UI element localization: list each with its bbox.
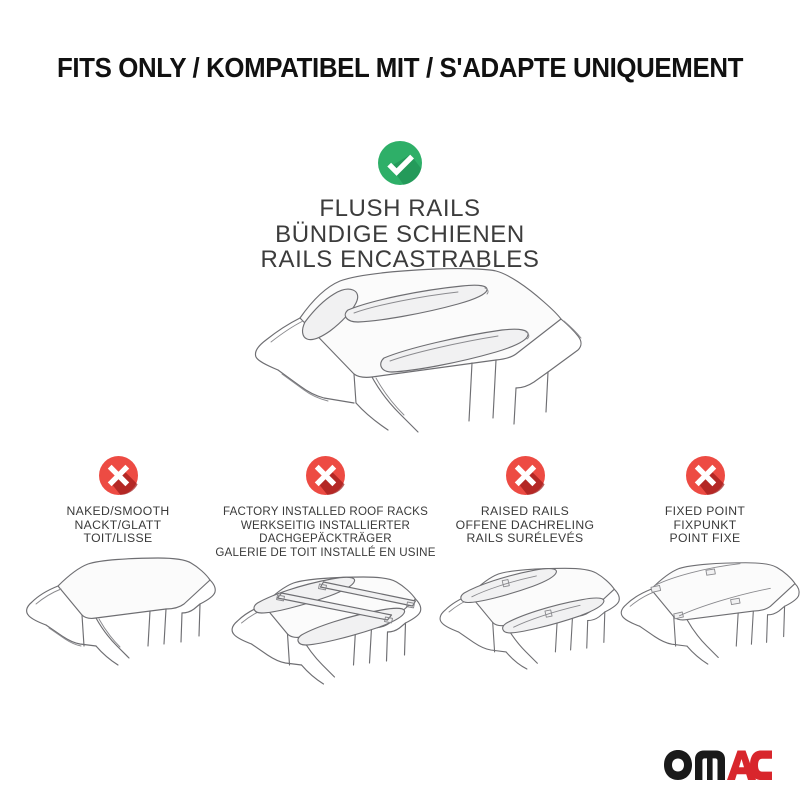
cross-circle-icon bbox=[98, 455, 139, 496]
label-de-line1: WERKSEITIG INSTALLIERTER bbox=[208, 519, 443, 533]
label-fr: POINT FIXE bbox=[615, 532, 795, 546]
page-title: FITS ONLY / KOMPATIBEL MIT / S'ADAPTE UN… bbox=[24, 52, 776, 84]
label-en: FIXED POINT bbox=[615, 505, 795, 519]
incompatible-labels-naked-smooth: NAKED/SMOOTH NACKT/GLATT TOIT/LISSE bbox=[18, 505, 218, 546]
car-roof-flush-rails-illustration bbox=[196, 262, 616, 437]
label-de: FIXPUNKT bbox=[615, 519, 795, 533]
cross-circle-icon bbox=[305, 455, 346, 496]
cross-circle-icon bbox=[685, 455, 726, 496]
car-roof-fixed-point-illustration bbox=[615, 552, 795, 672]
car-roof-factory-racks-illustration bbox=[208, 565, 443, 685]
incompatible-labels-fixed-point: FIXED POINT FIXPUNKT POINT FIXE bbox=[615, 505, 795, 546]
omac-logo bbox=[663, 748, 773, 782]
incompatible-item-raised-rails: RAISED RAILS OFFENE DACHRELING RAILS SUR… bbox=[430, 455, 620, 672]
label-de-line2: DACHGEPÄCKTRÄGER bbox=[208, 532, 443, 546]
car-roof-naked-illustration bbox=[18, 552, 218, 672]
label-en: RAISED RAILS bbox=[430, 505, 620, 519]
compatible-label-en: FLUSH RAILS bbox=[0, 196, 800, 222]
label-en: NAKED/SMOOTH bbox=[18, 505, 218, 519]
incompatible-item-factory-racks: FACTORY INSTALLED ROOF RACKS WERKSEITIG … bbox=[208, 455, 443, 685]
logo-letter-m bbox=[695, 751, 725, 781]
label-fr: TOIT/LISSE bbox=[18, 532, 218, 546]
incompatible-section: NAKED/SMOOTH NACKT/GLATT TOIT/LISSE bbox=[0, 455, 800, 705]
label-fr: RAILS SURÉLEVÉS bbox=[430, 532, 620, 546]
logo-letter-o bbox=[664, 750, 692, 780]
compatible-label-de: BÜNDIGE SCHIENEN bbox=[0, 222, 800, 248]
label-en: FACTORY INSTALLED ROOF RACKS bbox=[208, 505, 443, 519]
incompatible-item-fixed-point: FIXED POINT FIXPUNKT POINT FIXE bbox=[615, 455, 795, 672]
label-de: NACKT/GLATT bbox=[18, 519, 218, 533]
incompatible-item-naked-smooth: NAKED/SMOOTH NACKT/GLATT TOIT/LISSE bbox=[18, 455, 218, 672]
car-roof-raised-rails-illustration bbox=[430, 552, 620, 672]
label-fr: GALERIE DE TOIT INSTALLÉ EN USINE bbox=[208, 546, 443, 560]
incompatible-labels-raised-rails: RAISED RAILS OFFENE DACHRELING RAILS SUR… bbox=[430, 505, 620, 546]
incompatible-labels-factory-racks: FACTORY INSTALLED ROOF RACKS WERKSEITIG … bbox=[208, 505, 443, 559]
check-circle-icon bbox=[377, 140, 423, 186]
cross-circle-icon bbox=[505, 455, 546, 496]
compatible-section: FLUSH RAILS BÜNDIGE SCHIENEN RAILS ENCAS… bbox=[0, 140, 800, 273]
logo-letter-c bbox=[750, 751, 772, 781]
